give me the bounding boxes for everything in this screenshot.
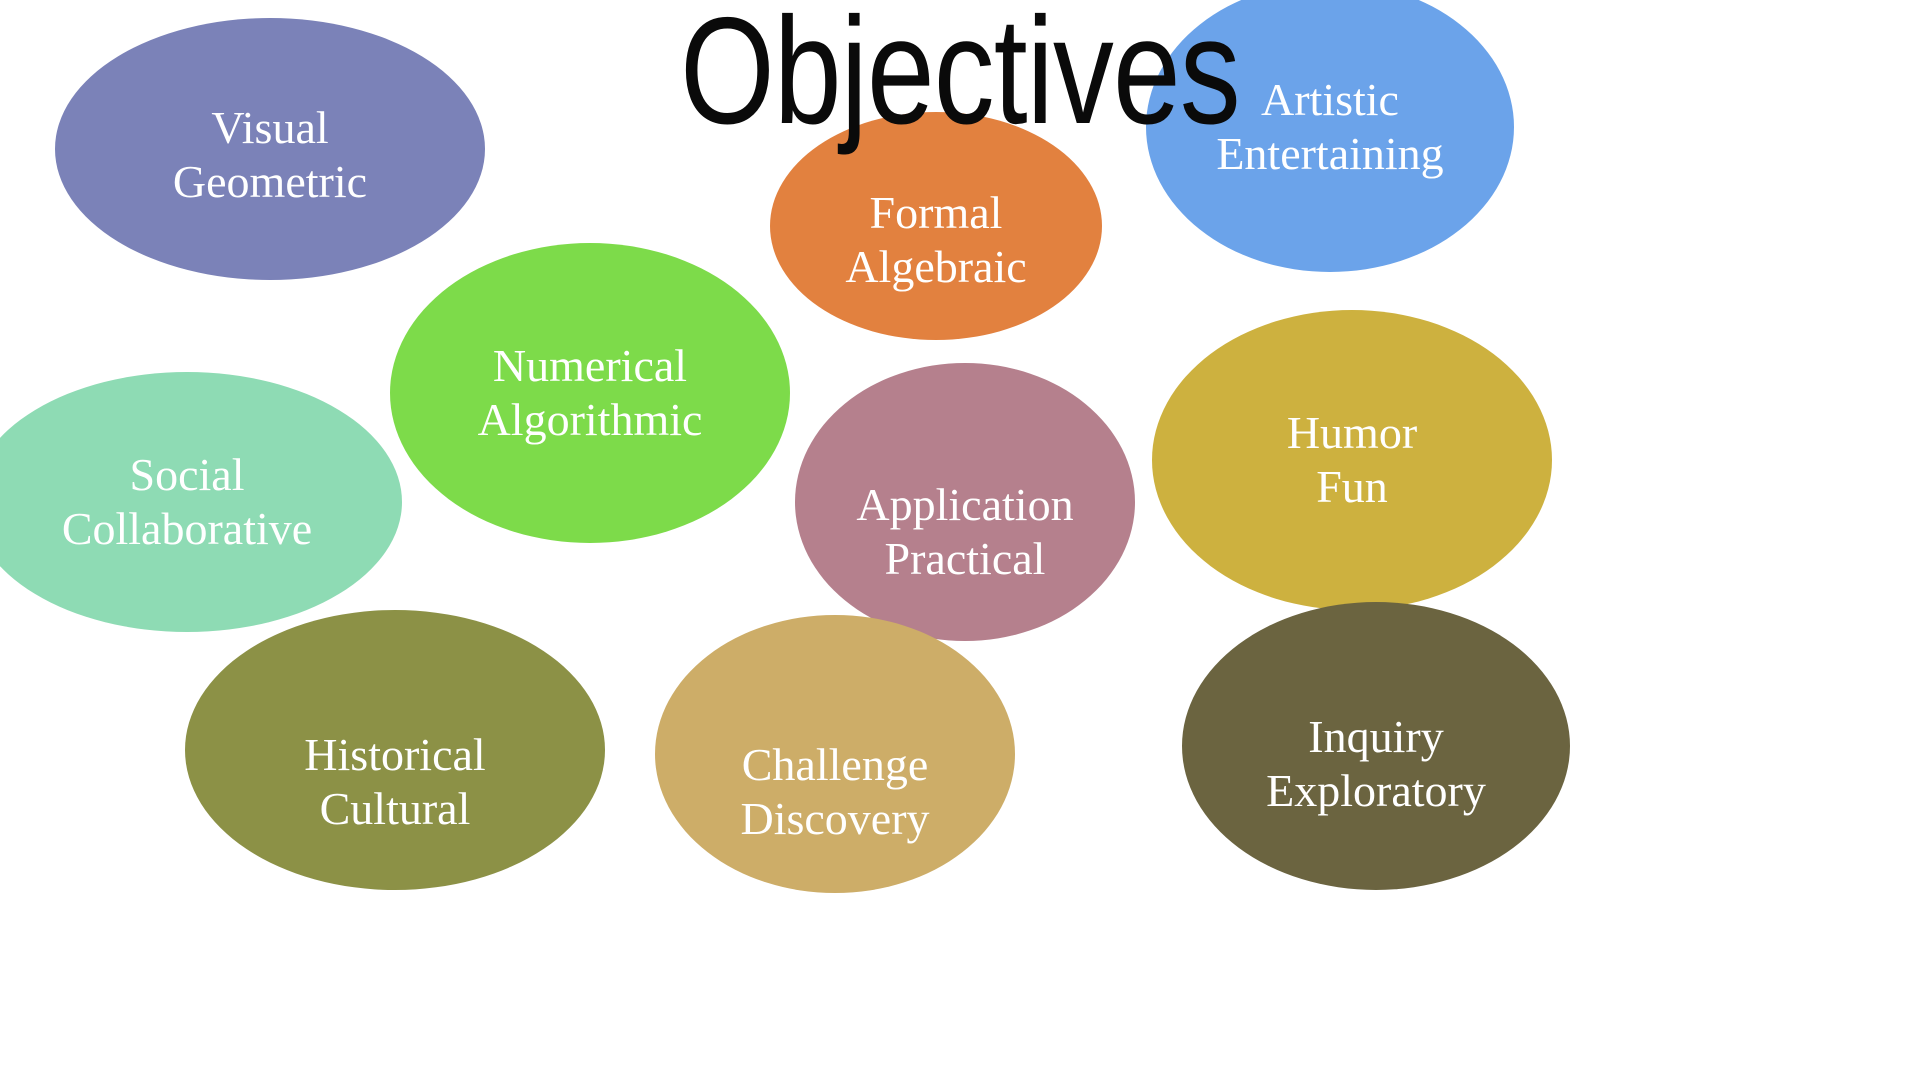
bubble-label: ApplicationPractical bbox=[856, 478, 1073, 587]
bubble-label-line-2: Fun bbox=[1287, 460, 1417, 514]
bubble-label: SocialCollaborative bbox=[62, 448, 312, 557]
bubble-label-line-1: Application bbox=[856, 478, 1073, 532]
bubble-label: InquiryExploratory bbox=[1266, 710, 1486, 819]
bubble-application-practical[interactable]: ApplicationPractical bbox=[795, 363, 1135, 641]
bubble-label: NumericalAlgorithmic bbox=[478, 339, 703, 448]
bubble-label-line-2: Algorithmic bbox=[478, 393, 703, 447]
bubble-label-line-1: Challenge bbox=[740, 738, 929, 792]
bubble-label-line-2: Discovery bbox=[740, 792, 929, 846]
bubble-label-line-2: Exploratory bbox=[1266, 764, 1486, 818]
bubble-label-line-2: Cultural bbox=[304, 782, 485, 836]
bubble-label-line-1: Social bbox=[62, 448, 312, 502]
bubble-label: HumorFun bbox=[1287, 406, 1417, 515]
bubble-label-line-1: Historical bbox=[304, 728, 485, 782]
bubble-social-collaborative[interactable]: SocialCollaborative bbox=[0, 372, 402, 632]
bubble-label-line-1: Inquiry bbox=[1266, 710, 1486, 764]
objectives-diagram-canvas: Objectives VisualGeometricFormalAlgebrai… bbox=[0, 0, 1920, 1080]
bubble-label-line-2: Collaborative bbox=[62, 502, 312, 556]
bubble-label-line-1: Numerical bbox=[478, 339, 703, 393]
bubble-challenge-discovery[interactable]: ChallengeDiscovery bbox=[655, 615, 1015, 893]
bubble-label: FormalAlgebraic bbox=[845, 186, 1026, 295]
bubble-inquiry-exploratory[interactable]: InquiryExploratory bbox=[1182, 602, 1570, 890]
bubble-numerical-algorithmic[interactable]: NumericalAlgorithmic bbox=[390, 243, 790, 543]
bubble-label-line-1: Formal bbox=[845, 186, 1026, 240]
bubble-historical-cultural[interactable]: HistoricalCultural bbox=[185, 610, 605, 890]
bubble-label-line-2: Practical bbox=[856, 532, 1073, 586]
bubble-label: ChallengeDiscovery bbox=[740, 738, 929, 847]
bubble-label-line-2: Geometric bbox=[173, 155, 367, 209]
bubble-label-line-1: Humor bbox=[1287, 406, 1417, 460]
page-title: Objectives bbox=[192, 0, 1728, 152]
bubble-humor-fun[interactable]: HumorFun bbox=[1152, 310, 1552, 610]
bubble-label-line-2: Algebraic bbox=[845, 240, 1026, 294]
bubble-label: HistoricalCultural bbox=[304, 728, 485, 837]
